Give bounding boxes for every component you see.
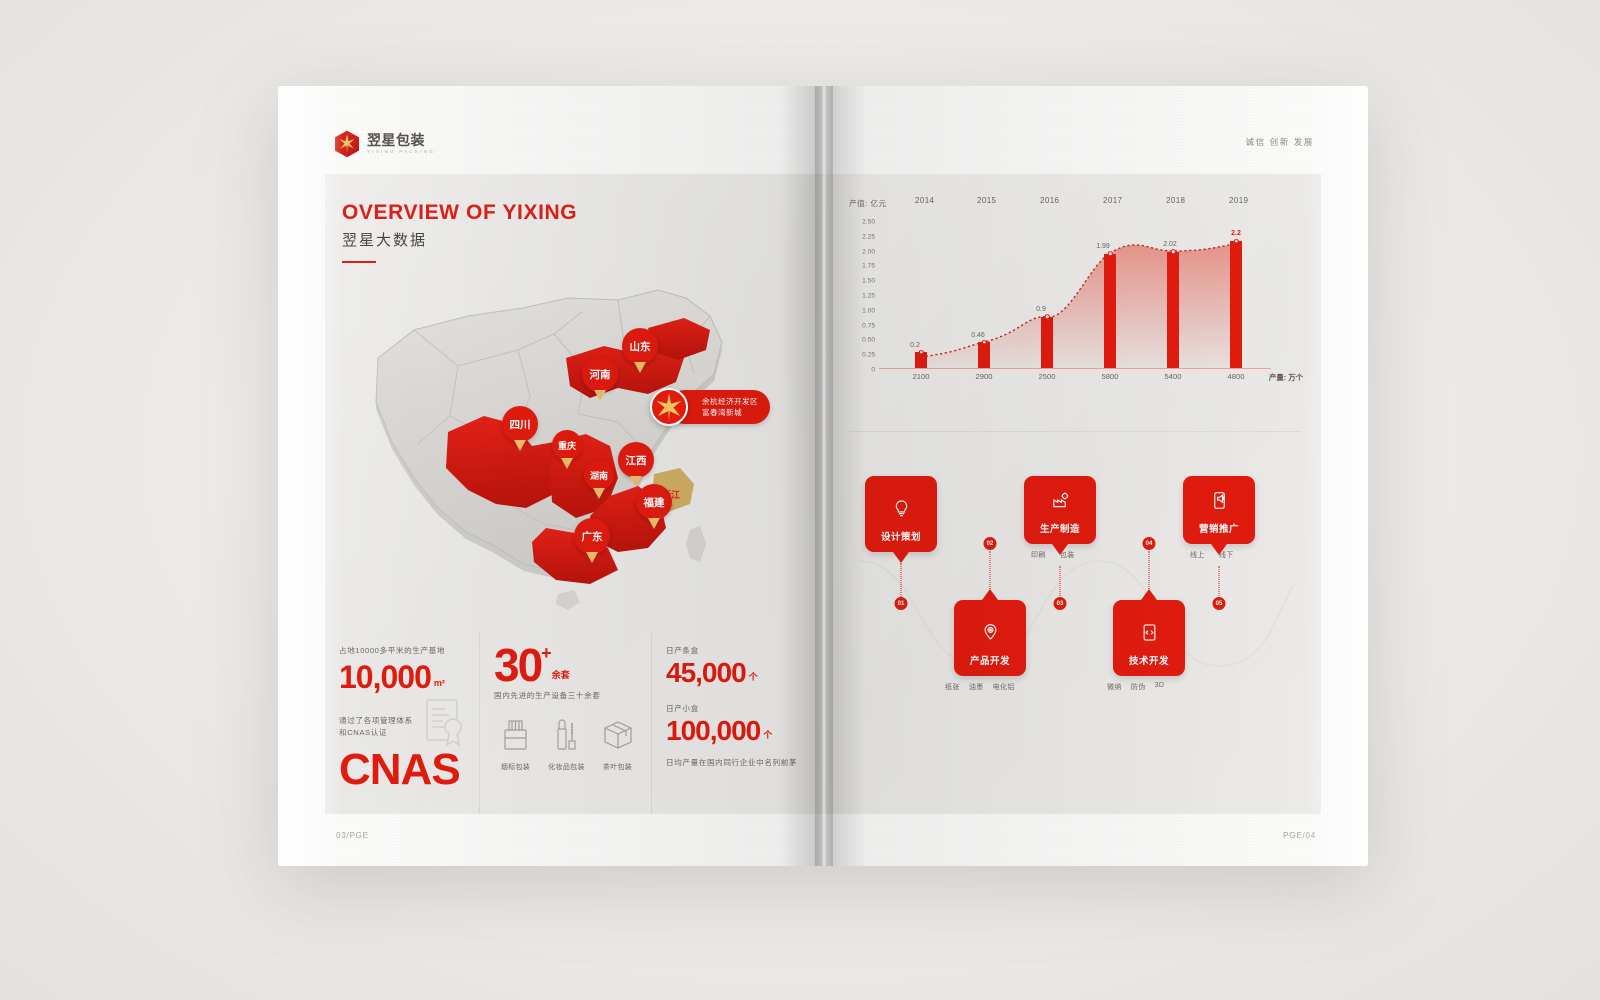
- chart-year-2015: 2015: [977, 196, 996, 205]
- magazine-spread-scene: 翌星包装 YIXING PACKING OVERVIEW OF YIXING 翌…: [0, 0, 1600, 1000]
- process-step-number-01: 01: [895, 597, 908, 610]
- lipstick-icon: [552, 717, 582, 756]
- process-sub-label: 油墨: [969, 682, 984, 692]
- chart-marker-2014: [919, 350, 924, 355]
- output-footnote: 日均产量在国内同行企业中名列前茅: [666, 757, 811, 769]
- code-document-icon: [1140, 623, 1159, 647]
- y-tick-1-75: 1.75: [862, 263, 875, 270]
- chart-marker-2017: [1108, 251, 1113, 256]
- chart-x-axis: 2100 2900 2500 5800 5400 4800: [879, 372, 1271, 386]
- map-pin-henan[interactable]: 河南: [582, 356, 618, 401]
- product-item-cigarette: 烟标包装: [494, 717, 537, 772]
- y-tick-2-25: 2.25: [862, 233, 875, 240]
- process-card-manufacturing[interactable]: 生产制造: [1024, 476, 1096, 544]
- map-label-zhejiang: 浙江: [662, 488, 680, 501]
- cnas-badge: CNAS: [339, 748, 460, 792]
- chart-bar-2017: [1104, 254, 1116, 369]
- chart-value-2019: 2.2: [1231, 230, 1241, 237]
- equipment-value: 30: [494, 645, 541, 686]
- x-tick-2500: 2500: [1039, 372, 1056, 381]
- chart-year-2014: 2014: [915, 196, 934, 205]
- process-subs-tech-dev: 微纳 防伪 3D: [1107, 682, 1164, 692]
- chart-bar-2016: [1041, 317, 1053, 369]
- x-tick-5800: 5800: [1102, 372, 1119, 381]
- y-tick-0-50: 0.50: [862, 337, 875, 344]
- process-card-marketing[interactable]: 营销推广: [1183, 476, 1255, 544]
- product-item-cosmetics: 化妆品包装: [545, 717, 588, 772]
- card-beak-icon: [982, 589, 998, 600]
- map-pin-label: 广东: [574, 518, 610, 554]
- brand-name-cn: 翌星包装: [367, 133, 435, 147]
- pin-tail-icon: [514, 440, 526, 451]
- map-pin-chongqing[interactable]: 重庆: [552, 430, 582, 475]
- daily-cartons-unit: 个: [749, 670, 758, 683]
- daily-boxes-unit: 个: [763, 728, 772, 741]
- chart-baseline: [879, 368, 1271, 369]
- x-tick-2900: 2900: [976, 372, 993, 381]
- chart-value-2017: 1.99: [1096, 243, 1110, 250]
- y-tick-0-75: 0.75: [862, 322, 875, 329]
- chart-year-2018: 2018: [1166, 196, 1185, 205]
- map-pin-label: 江西: [618, 442, 654, 478]
- y-tick-2-50: 2.50: [862, 219, 875, 226]
- chart-marker-2016: [1045, 315, 1050, 320]
- x-tick-2100: 2100: [913, 372, 930, 381]
- y-tick-1-00: 1.00: [862, 307, 875, 314]
- process-step-name: 生产制造: [1040, 521, 1080, 535]
- process-sub-label: 微纳: [1107, 682, 1122, 692]
- page-number-right: PGE/04: [1283, 831, 1316, 840]
- equipment-unit: 余套: [552, 668, 570, 681]
- pin-tail-icon: [593, 488, 605, 499]
- page-number-left: 03/PGE: [336, 831, 369, 840]
- map-pin-label: 湖南: [584, 460, 614, 490]
- chart-year-2016: 2016: [1040, 196, 1059, 205]
- process-step-name: 营销推广: [1199, 521, 1239, 535]
- y-tick-1-50: 1.50: [862, 278, 875, 285]
- chart-bar-2014: [915, 352, 927, 369]
- map-pin-label: 河南: [582, 356, 618, 392]
- process-sub-label: 线下: [1219, 550, 1234, 560]
- chart-bar-2015: [978, 342, 990, 369]
- y-tick-0-25: 0.25: [862, 352, 875, 359]
- section-divider: [849, 431, 1301, 432]
- equipment-caption: 国内先进的生产设备三十余套: [494, 690, 639, 702]
- area-unit: m²: [434, 678, 445, 688]
- process-sub-label: 防伪: [1131, 682, 1146, 692]
- headquarters-line2: 富春湾新城: [702, 407, 758, 418]
- process-step-number-04: 04: [1143, 537, 1156, 550]
- equipment-superscript: +: [541, 645, 550, 661]
- statistics-strip: 占地10000多平米的生产基地 10,000 m² 通过了各项管理体系 和CNA…: [325, 631, 823, 814]
- pin-tail-icon: [561, 458, 573, 469]
- process-flow-diagram[interactable]: 设计策划 01 02 产品开发: [849, 466, 1301, 766]
- process-sub-label: 印刷: [1031, 550, 1046, 560]
- brand-logo[interactable]: 翌星包装 YIXING PACKING: [334, 130, 435, 158]
- product-label: 烟标包装: [501, 762, 530, 772]
- brand-motto: 诚信 创新 发展: [1245, 136, 1314, 148]
- process-sub-label: 纸张: [945, 682, 960, 692]
- pin-tail-icon: [648, 518, 660, 529]
- stat-block-output: 日产条盒 45,000 个 日产小盒 100,000 个 日均产量在国内同行企业…: [651, 631, 823, 814]
- chart-marker-2015: [982, 340, 987, 345]
- map-pin-shandong[interactable]: 山东: [622, 328, 658, 373]
- process-sub-label: 包装: [1060, 550, 1075, 560]
- map-pin-guangdong[interactable]: 广东: [574, 518, 610, 563]
- process-step-number-02: 02: [984, 537, 997, 550]
- map-pin-label: 四川: [502, 406, 538, 442]
- chart-y-axis: 2.50 2.25 2.00 1.75 1.50 1.25 1.00 0.75 …: [847, 222, 875, 370]
- chart-trend-area: [879, 224, 1271, 369]
- chart-bar-2018: [1167, 252, 1179, 369]
- process-connector-01: [901, 563, 902, 599]
- map-pin-hunan[interactable]: 湖南: [584, 460, 614, 505]
- page-left: 翌星包装 YIXING PACKING OVERVIEW OF YIXING 翌…: [278, 86, 823, 866]
- card-beak-icon: [893, 552, 909, 563]
- china-map[interactable]: 四川 重庆 湖南 河南 山东: [318, 246, 788, 646]
- chart-value-2016: 0.9: [1036, 306, 1046, 313]
- product-item-tea: 茶叶包装: [596, 717, 639, 772]
- revenue-output-chart[interactable]: 产值: 亿元 2014 2015 2016 2017 2018 2019 2.5…: [849, 196, 1301, 396]
- lightbulb-idea-icon: [892, 499, 911, 523]
- process-sub-label: 3D: [1155, 682, 1165, 692]
- chart-marker-2019: [1234, 239, 1239, 244]
- process-card-design[interactable]: 设计策划: [865, 476, 937, 552]
- process-subs-marketing: 线上 线下: [1190, 550, 1234, 560]
- process-sub-label: 线上: [1190, 550, 1205, 560]
- process-card-product-dev[interactable]: 产品开发: [954, 600, 1026, 676]
- headquarters-text: 余杭经济开发区 富春湾新城: [702, 396, 758, 418]
- map-pin-label: 重庆: [552, 430, 582, 460]
- y-tick-0: 0: [871, 367, 875, 374]
- chart-year-2019: 2019: [1229, 196, 1248, 205]
- chart-value-2014: 0.2: [910, 342, 920, 349]
- factory-gear-icon: [1051, 491, 1070, 515]
- hexcube-star-logo-icon: [334, 130, 360, 158]
- process-subs-product-dev: 纸张 油墨 电化铝: [945, 682, 1015, 692]
- process-connector-05: [1219, 566, 1220, 600]
- headquarters-line1: 余杭经济开发区: [702, 396, 758, 407]
- process-step-name: 技术开发: [1129, 653, 1169, 667]
- daily-cartons-value: 45,000: [666, 659, 746, 687]
- process-step-name: 设计策划: [881, 529, 921, 543]
- chart-year-2017: 2017: [1103, 196, 1122, 205]
- page-right: 诚信 创新 发展 产值: 亿元 2014 2015 2016 2017 2018…: [823, 86, 1368, 866]
- brand-name-en: YIXING PACKING: [367, 150, 435, 155]
- area-value: 10,000: [339, 661, 431, 693]
- chart-plot-area: 0.2 0.46 0.9 1.99 2.02 2.2: [879, 224, 1271, 369]
- target-location-icon: [981, 623, 1000, 647]
- process-connector-02: [990, 551, 991, 589]
- map-pin-jiangxi[interactable]: 江西: [618, 442, 654, 487]
- pin-tail-icon: [594, 390, 606, 401]
- chart-year-header-row: 2014 2015 2016 2017 2018 2019: [849, 196, 1301, 214]
- card-beak-icon: [1141, 589, 1157, 600]
- y-tick-1-25: 1.25: [862, 293, 875, 300]
- chart-x-axis-title: 产量: 万个: [1269, 372, 1303, 383]
- page-title-en: OVERVIEW OF YIXING: [342, 201, 577, 225]
- process-subs-manufacturing: 印刷 包装: [1031, 550, 1075, 560]
- map-headquarters-marker[interactable]: 余杭经济开发区 富春湾新城: [650, 388, 770, 426]
- chart-bar-2019: [1230, 241, 1242, 369]
- x-tick-5400: 5400: [1165, 372, 1182, 381]
- box-icon: [602, 717, 634, 756]
- mobile-megaphone-icon: [1210, 491, 1229, 515]
- map-pin-label: 山东: [622, 328, 658, 364]
- stat-block-area-and-cert: 占地10000多平米的生产基地 10,000 m² 通过了各项管理体系 和CNA…: [325, 631, 479, 814]
- process-step-number-05: 05: [1213, 597, 1226, 610]
- brand-logo-text: 翌星包装 YIXING PACKING: [367, 133, 435, 155]
- y-tick-2-00: 2.00: [862, 248, 875, 255]
- daily-cartons-caption: 日产条盒: [666, 645, 811, 657]
- product-label: 茶叶包装: [603, 762, 632, 772]
- open-brochure: 翌星包装 YIXING PACKING OVERVIEW OF YIXING 翌…: [278, 86, 1368, 866]
- map-pin-sichuan[interactable]: 四川: [502, 406, 538, 451]
- daily-boxes-value: 100,000: [666, 717, 760, 745]
- chart-value-2015: 0.46: [971, 332, 985, 339]
- daily-boxes-caption: 日产小盒: [666, 703, 811, 715]
- process-connector-03: [1060, 566, 1061, 600]
- process-step-name: 产品开发: [970, 653, 1010, 667]
- process-step-number-03: 03: [1054, 597, 1067, 610]
- product-icon-row: 烟标包装: [494, 717, 639, 772]
- star-badge-icon: [650, 388, 688, 426]
- x-tick-4800: 4800: [1228, 372, 1245, 381]
- cigarette-pack-icon: [501, 717, 531, 756]
- pin-tail-icon: [634, 362, 646, 373]
- pin-tail-icon: [586, 552, 598, 563]
- area-caption: 占地10000多平米的生产基地: [339, 645, 467, 657]
- process-sub-label: 电化铝: [993, 682, 1015, 692]
- chart-value-2018: 2.02: [1163, 241, 1177, 248]
- process-card-tech-dev[interactable]: 技术开发: [1113, 600, 1185, 676]
- chart-marker-2018: [1171, 250, 1176, 255]
- product-label: 化妆品包装: [548, 762, 585, 772]
- process-connector-04: [1149, 551, 1150, 589]
- stat-block-equipment: 30 + 余套 国内先进的生产设备三十余套: [479, 631, 651, 814]
